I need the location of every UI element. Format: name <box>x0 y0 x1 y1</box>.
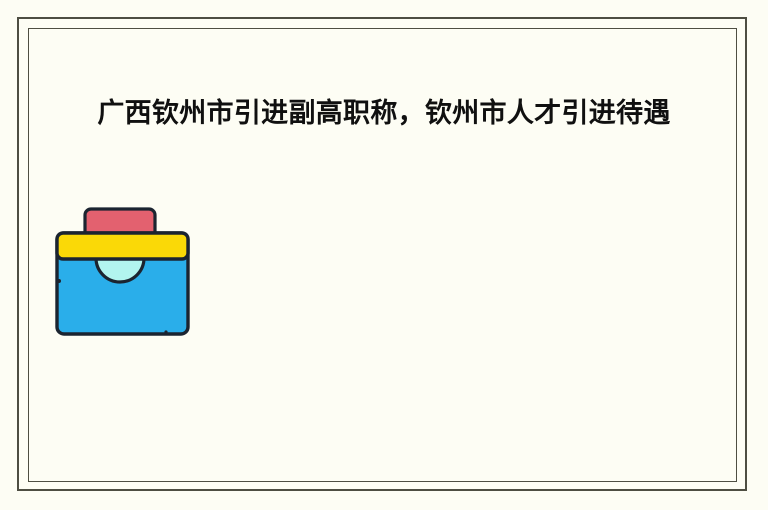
briefcase-box-illustration <box>50 200 200 345</box>
document-page: 广西钦州市引进副高职称，钦州市人才引进待遇 <box>0 0 768 510</box>
briefcase-icon <box>50 200 200 345</box>
page-title: 广西钦州市引进副高职称，钦州市人才引进待遇 <box>0 97 768 131</box>
speckle-dot-left <box>57 279 61 283</box>
briefcase-lid-shape <box>57 233 188 259</box>
speckle-dot-bottom-right <box>164 330 167 333</box>
